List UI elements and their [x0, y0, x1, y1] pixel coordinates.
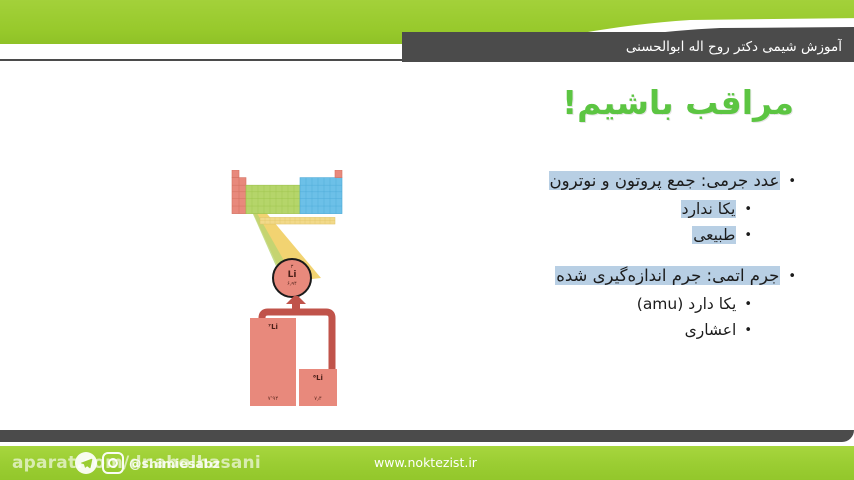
list-item-label: یکا دارد (amu) [637, 295, 737, 313]
instagram-handle: @shimiesabz [129, 456, 220, 471]
course-title: آموزش شیمی دکتر روح اله ابوالحسنی [422, 33, 842, 61]
bullet-marker: • [744, 224, 752, 248]
presentation-slide: آموزش شیمی دکتر روح اله ابوالحسنی مراقب … [0, 0, 854, 480]
slide-header: آموزش شیمی دکتر روح اله ابوالحسنی [0, 0, 854, 62]
element-symbol: Li [274, 270, 310, 281]
page-title: مراقب باشیم! [364, 83, 794, 122]
bullet-marker: • [788, 264, 796, 290]
isotope-symbol: ⁶Li [299, 374, 337, 382]
list-item: •طبیعی [376, 223, 796, 248]
list-spacer [376, 249, 796, 263]
list-item-label: عدد جرمی: جمع پروتون و نوترون [549, 171, 781, 190]
list-item: •یکا ندارد [376, 197, 796, 222]
list-item-label: جرم اتمی: جرم اندازه‌گیری شده [555, 266, 780, 285]
list-item: •عدد جرمی: جمع پروتون و نوترون [376, 168, 796, 195]
instagram-icon[interactable] [102, 452, 124, 474]
header-divider [0, 59, 854, 61]
social-links: @shimiesabz [12, 450, 220, 476]
website-url: www.noktezist.ir [374, 450, 477, 476]
periodic-table-blocks [230, 170, 365, 225]
list-item-label: طبیعی [692, 226, 736, 244]
magnified-element-cell: ۳ Li ۶٫۹۴ [272, 258, 312, 298]
isotope-abundance: ۷٬۹۴ [250, 396, 296, 402]
isotope-abundance: ۷٫۴ [299, 396, 337, 402]
list-item: •یکا دارد (amu) [376, 292, 796, 317]
list-item: •جرم اتمی: جرم اندازه‌گیری شده [376, 263, 796, 290]
list-item: •اعشاری [376, 318, 796, 343]
bullet-list: •عدد جرمی: جمع پروتون و نوترون •یکا ندار… [376, 168, 796, 344]
telegram-icon[interactable] [75, 452, 97, 474]
footer-dark-bar [0, 430, 854, 442]
list-item-label: اعشاری [685, 321, 737, 339]
atomic-mass: ۶٫۹۴ [274, 281, 310, 287]
isotope-symbol: ⁷Li [250, 323, 296, 331]
isotope-box-li6: ⁶Li ۷٫۴ [299, 369, 337, 406]
bullet-marker: • [788, 169, 796, 195]
bullet-marker: • [744, 198, 752, 222]
isotope-box-li7: ⁷Li ۷٬۹۴ [250, 318, 296, 406]
bullet-marker: • [744, 293, 752, 317]
bullet-marker: • [744, 319, 752, 343]
list-item-label: یکا ندارد [681, 200, 737, 218]
